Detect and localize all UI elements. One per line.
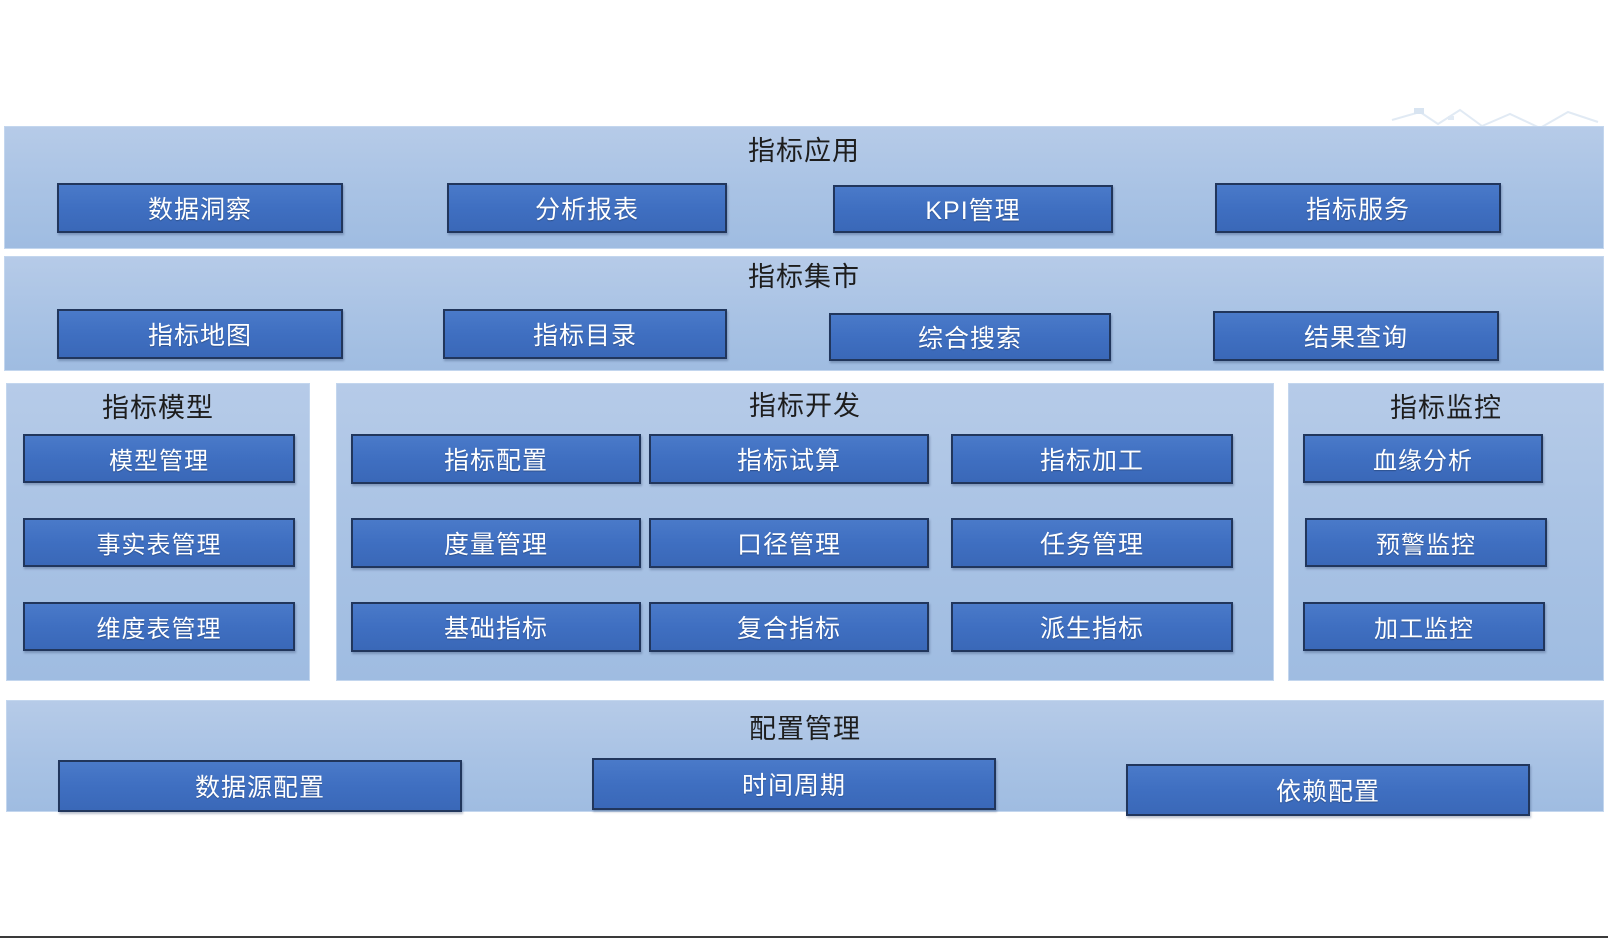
section-indicator-mart: 指标集市 指标地图 指标目录 综合搜索 结果查询 bbox=[4, 256, 1604, 371]
bottom-edge-rule bbox=[0, 936, 1608, 938]
button-alert-monitoring[interactable]: 预警监控 bbox=[1305, 518, 1547, 567]
button-indicator-catalog[interactable]: 指标目录 bbox=[443, 309, 727, 359]
button-analysis-report[interactable]: 分析报表 bbox=[447, 183, 727, 233]
button-processing-monitoring[interactable]: 加工监控 bbox=[1303, 602, 1545, 651]
button-indicator-processing[interactable]: 指标加工 bbox=[951, 434, 1233, 484]
section-indicator-development: 指标开发 指标配置 指标试算 指标加工 度量管理 口径管理 任务管理 基础指标 … bbox=[336, 383, 1274, 681]
button-comprehensive-search[interactable]: 综合搜索 bbox=[829, 313, 1111, 361]
section-title-indicator-model: 指标模型 bbox=[7, 392, 309, 424]
button-kpi-management[interactable]: KPI管理 bbox=[833, 185, 1113, 233]
button-time-period[interactable]: 时间周期 bbox=[592, 758, 996, 810]
button-task-management[interactable]: 任务管理 bbox=[951, 518, 1233, 568]
button-basic-indicator[interactable]: 基础指标 bbox=[351, 602, 641, 652]
button-dependency-configuration[interactable]: 依赖配置 bbox=[1126, 764, 1530, 816]
button-data-insight[interactable]: 数据洞察 bbox=[57, 183, 343, 233]
section-title-indicator-mart: 指标集市 bbox=[5, 261, 1603, 293]
section-indicator-monitoring: 指标监控 血缘分析 预警监控 加工监控 bbox=[1288, 383, 1604, 681]
button-indicator-trial-calculation[interactable]: 指标试算 bbox=[649, 434, 929, 484]
button-indicator-configuration[interactable]: 指标配置 bbox=[351, 434, 641, 484]
button-measure-management[interactable]: 度量管理 bbox=[351, 518, 641, 568]
section-indicator-model: 指标模型 模型管理 事实表管理 维度表管理 bbox=[6, 383, 310, 681]
architecture-diagram-canvas: 指标应用 数据洞察 分析报表 KPI管理 指标服务 指标集市 指标地图 指标目录… bbox=[0, 0, 1608, 940]
button-indicator-service[interactable]: 指标服务 bbox=[1215, 183, 1501, 233]
section-indicator-application: 指标应用 数据洞察 分析报表 KPI管理 指标服务 bbox=[4, 126, 1604, 249]
button-data-source-configuration[interactable]: 数据源配置 bbox=[58, 760, 462, 812]
button-lineage-analysis[interactable]: 血缘分析 bbox=[1303, 434, 1543, 483]
section-title-indicator-development: 指标开发 bbox=[337, 390, 1273, 422]
section-title-indicator-monitoring: 指标监控 bbox=[1289, 392, 1603, 424]
button-indicator-map[interactable]: 指标地图 bbox=[57, 309, 343, 359]
button-result-query[interactable]: 结果查询 bbox=[1213, 311, 1499, 361]
section-title-indicator-application: 指标应用 bbox=[5, 135, 1603, 167]
left-edge-rule bbox=[0, 0, 2, 940]
button-dimension-table-management[interactable]: 维度表管理 bbox=[23, 602, 295, 651]
button-caliber-management[interactable]: 口径管理 bbox=[649, 518, 929, 568]
button-model-management[interactable]: 模型管理 bbox=[23, 434, 295, 483]
section-title-configuration-management: 配置管理 bbox=[7, 713, 1603, 745]
button-derived-indicator[interactable]: 派生指标 bbox=[951, 602, 1233, 652]
button-fact-table-management[interactable]: 事实表管理 bbox=[23, 518, 295, 567]
button-composite-indicator[interactable]: 复合指标 bbox=[649, 602, 929, 652]
